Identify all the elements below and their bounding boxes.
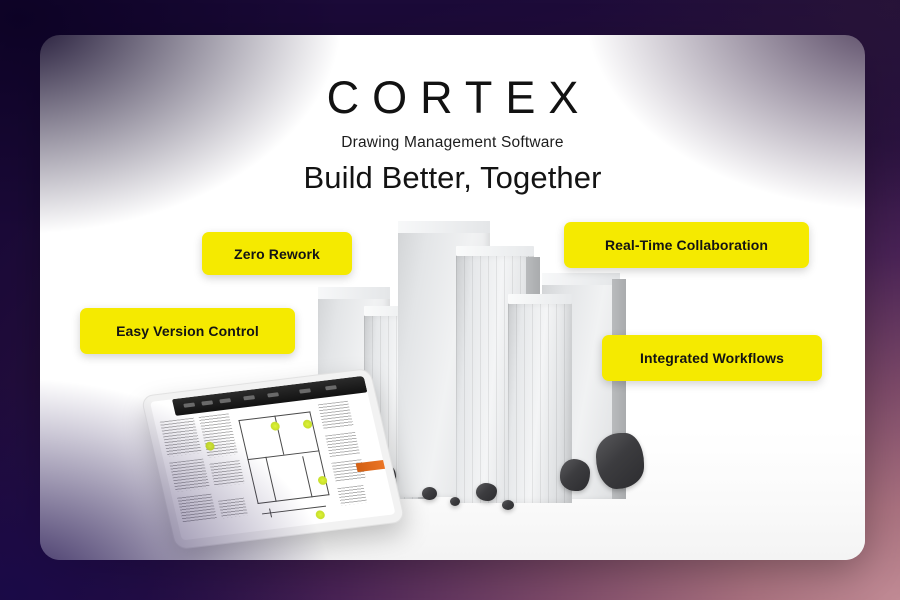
spec-text-block [177, 494, 217, 524]
plan-wall [302, 456, 312, 497]
feature-badge-zero-rework[interactable]: Zero Rework [202, 232, 352, 275]
spec-text-block [169, 459, 210, 492]
spec-text-block [209, 460, 244, 487]
rock [596, 433, 644, 489]
detail-text-block [337, 485, 367, 506]
feature-badge-real-time-collaboration[interactable]: Real-Time Collaboration [564, 222, 809, 268]
tower-right-column-cap [508, 294, 572, 304]
feature-badge-easy-version-control[interactable]: Easy Version Control [80, 308, 295, 354]
tablet-screen[interactable] [150, 376, 396, 541]
brand-block: CORTEX Drawing Management Software [40, 75, 865, 152]
rock [450, 497, 460, 506]
rock [560, 459, 590, 491]
plan-wall [238, 420, 258, 504]
markup-highlight[interactable] [315, 510, 326, 520]
page-title: Build Better, Together [40, 160, 865, 196]
tablet-device[interactable] [140, 368, 405, 550]
spec-text-block [218, 498, 248, 519]
feature-badge-integrated-workflows[interactable]: Integrated Workflows [602, 335, 822, 381]
toolbar-tool-icon[interactable] [299, 388, 311, 393]
toolbar-tool-icon[interactable] [219, 398, 231, 403]
markup-highlight[interactable] [270, 421, 281, 431]
toolbar-tool-icon[interactable] [201, 400, 213, 405]
tower-left-backslab-top [318, 287, 390, 299]
rock [476, 483, 497, 501]
toolbar-tool-icon[interactable] [267, 392, 279, 397]
toolbar-tool-icon[interactable] [183, 403, 195, 408]
brand-name: CORTEX [40, 75, 865, 120]
toolbar-tool-icon[interactable] [325, 385, 337, 390]
rock [502, 500, 514, 510]
promo-card: CORTEX Drawing Management Software Build… [40, 35, 865, 560]
promo-backdrop: CORTEX Drawing Management Software Build… [0, 0, 900, 600]
blueprint-drawing [154, 392, 396, 540]
rock [422, 487, 437, 500]
plan-wall [265, 457, 276, 502]
detail-text-block [318, 401, 354, 430]
brand-subtitle: Drawing Management Software [40, 134, 865, 152]
spec-text-block [199, 413, 238, 458]
tower-center-column-cap [456, 246, 534, 256]
plan-wall [257, 494, 329, 504]
tower-center-backslab-top [398, 221, 490, 233]
tower-right-backslab-top [542, 273, 620, 285]
toolbar-tool-icon[interactable] [243, 395, 255, 400]
detail-text-block [325, 432, 360, 457]
spec-text-block [160, 418, 202, 457]
